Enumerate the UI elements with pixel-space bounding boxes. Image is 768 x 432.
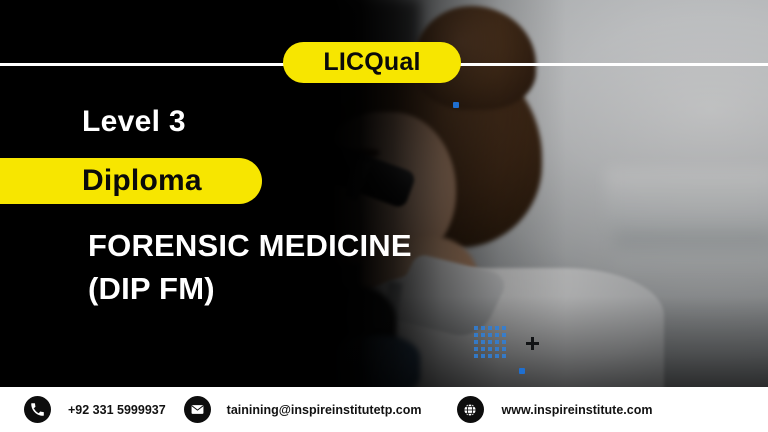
course-title-line-1: FORENSIC MEDICINE	[88, 228, 412, 263]
course-promo-banner: LICQual Level 3 Diploma FORENSIC MEDICIN…	[0, 0, 768, 432]
blue-dot-grid-icon	[474, 326, 506, 358]
course-title: FORENSIC MEDICINE (DIP FM)	[88, 225, 558, 311]
course-level: Level 3	[82, 107, 186, 137]
black-plus-mark-icon	[526, 337, 539, 350]
contact-website[interactable]: www.inspireinstitute.com	[457, 387, 653, 432]
globe-icon	[457, 396, 484, 423]
phone-icon	[24, 396, 51, 423]
course-award-badge: Diploma	[0, 158, 262, 204]
contact-phone[interactable]: +92 331 5999937	[24, 387, 166, 432]
contact-email-label: tainining@inspireinstitutetp.com	[227, 403, 422, 417]
course-title-line-2: (DIP FM)	[88, 268, 558, 311]
contact-footer: +92 331 5999937 tainining@inspireinstitu…	[0, 387, 768, 432]
brand-logo: LICQual	[283, 42, 461, 83]
contact-email[interactable]: tainining@inspireinstitutetp.com	[184, 387, 422, 432]
brand-logo-text: LICQual	[323, 50, 420, 75]
contact-phone-label: +92 331 5999937	[68, 403, 166, 417]
blue-dot-coat-icon	[519, 368, 525, 374]
blue-dot-forehead-icon	[453, 102, 459, 108]
contact-website-label: www.inspireinstitute.com	[502, 403, 653, 417]
course-award-label: Diploma	[82, 166, 202, 196]
envelope-icon	[184, 396, 211, 423]
